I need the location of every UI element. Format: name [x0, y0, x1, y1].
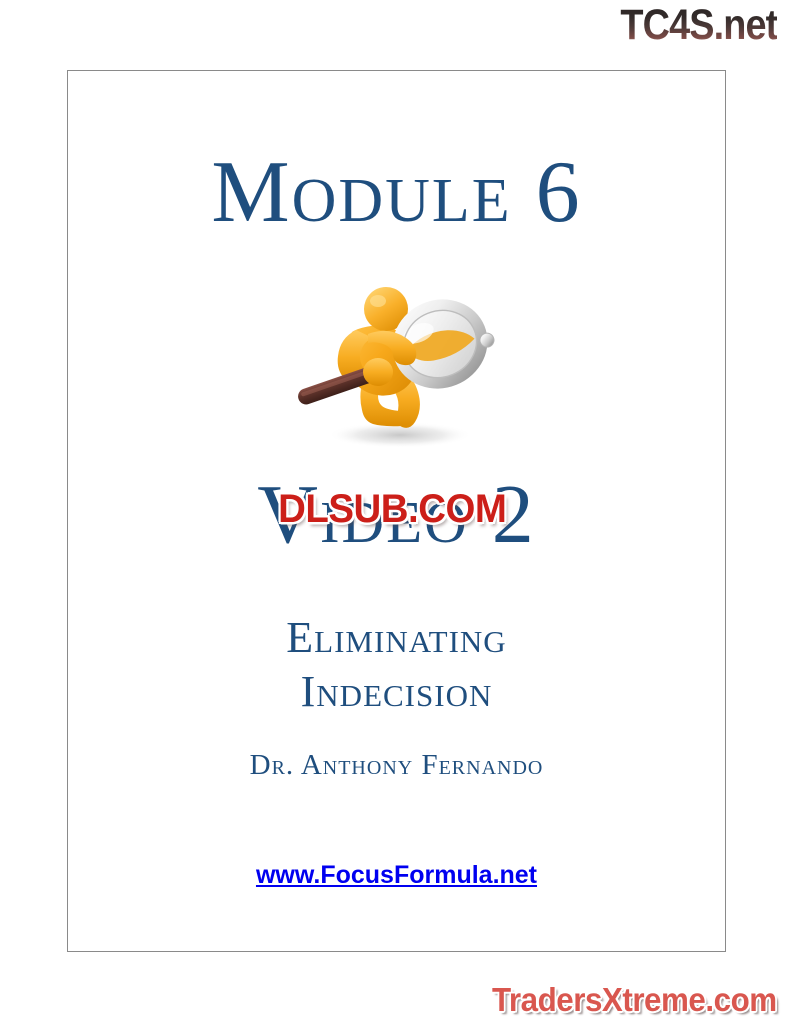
magnifying-glass-figure-icon	[282, 272, 512, 450]
document-page: Module 6	[67, 70, 726, 952]
page-subtitle: Eliminating Indecision	[68, 611, 725, 718]
website-link[interactable]: www.FocusFormula.net	[256, 861, 537, 889]
watermark-tc4s-net: TC4S.net	[620, 4, 777, 47]
page-title-module: Module 6	[68, 149, 725, 237]
page-subtitle-line-2: Indecision	[68, 665, 725, 719]
watermark-tradersxtreme-com: TradersXtreme.com	[492, 983, 777, 1016]
document-page-content: Module 6	[68, 71, 725, 951]
author-name: Dr. Anthony Fernando	[68, 751, 725, 780]
video-title-group: Video 2 DLSUB.COM	[68, 471, 725, 581]
illustration-container	[68, 271, 725, 451]
figure-hand	[363, 358, 393, 386]
cover-page-canvas: TC4S.net Module 6	[0, 0, 791, 1024]
figure-head-highlight	[370, 295, 386, 307]
page-subtitle-line-1: Eliminating	[68, 611, 725, 665]
watermark-dlsub-com: DLSUB.COM	[278, 489, 506, 529]
website-link-container: www.FocusFormula.net	[68, 861, 725, 890]
